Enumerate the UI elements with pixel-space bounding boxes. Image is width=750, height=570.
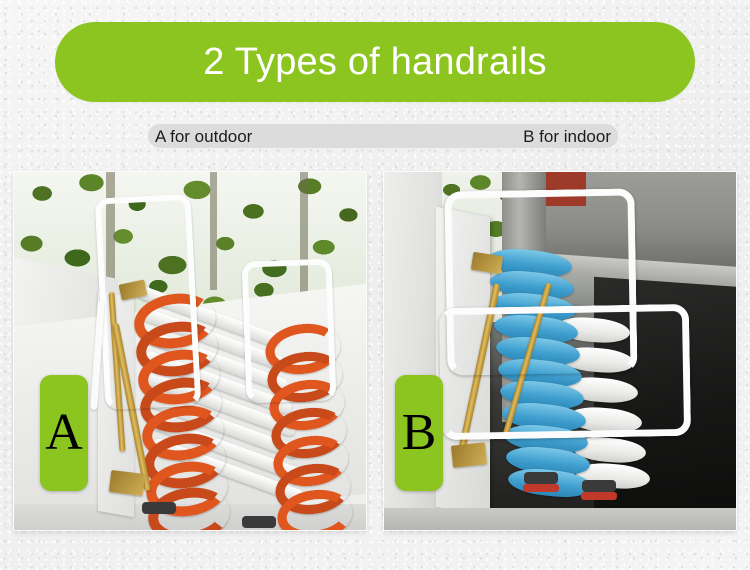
badge-letter-a: A (45, 407, 83, 459)
white-handrail-tube (95, 194, 202, 411)
ladder-foot (582, 480, 616, 492)
photo-badge-b: B (395, 375, 443, 491)
white-handrail-tube (242, 258, 337, 403)
product-photo-indoor: B (384, 172, 736, 530)
subtitle-label-indoor: B for indoor (523, 128, 618, 145)
ladder-foot (142, 502, 176, 514)
ladder-foot (242, 516, 276, 528)
subtitle-strip: A for outdoor B for indoor (148, 124, 618, 148)
title-banner: 2 Types of handrails (55, 22, 695, 102)
metal-bracket (109, 470, 145, 496)
metal-bracket (451, 442, 487, 467)
subtitle-label-outdoor: A for outdoor (148, 128, 252, 145)
tree-trunk (210, 172, 217, 290)
page-title: 2 Types of handrails (203, 43, 546, 81)
photo-badge-a: A (40, 375, 88, 491)
product-photo-outdoor: A (14, 172, 366, 530)
badge-letter-b: B (402, 407, 437, 459)
ladder-foot (524, 472, 558, 484)
floor-surface (384, 508, 736, 530)
ladder-foot-trim (523, 484, 559, 492)
ladder-foot-trim (581, 492, 617, 500)
white-handrail-tube (439, 304, 691, 440)
